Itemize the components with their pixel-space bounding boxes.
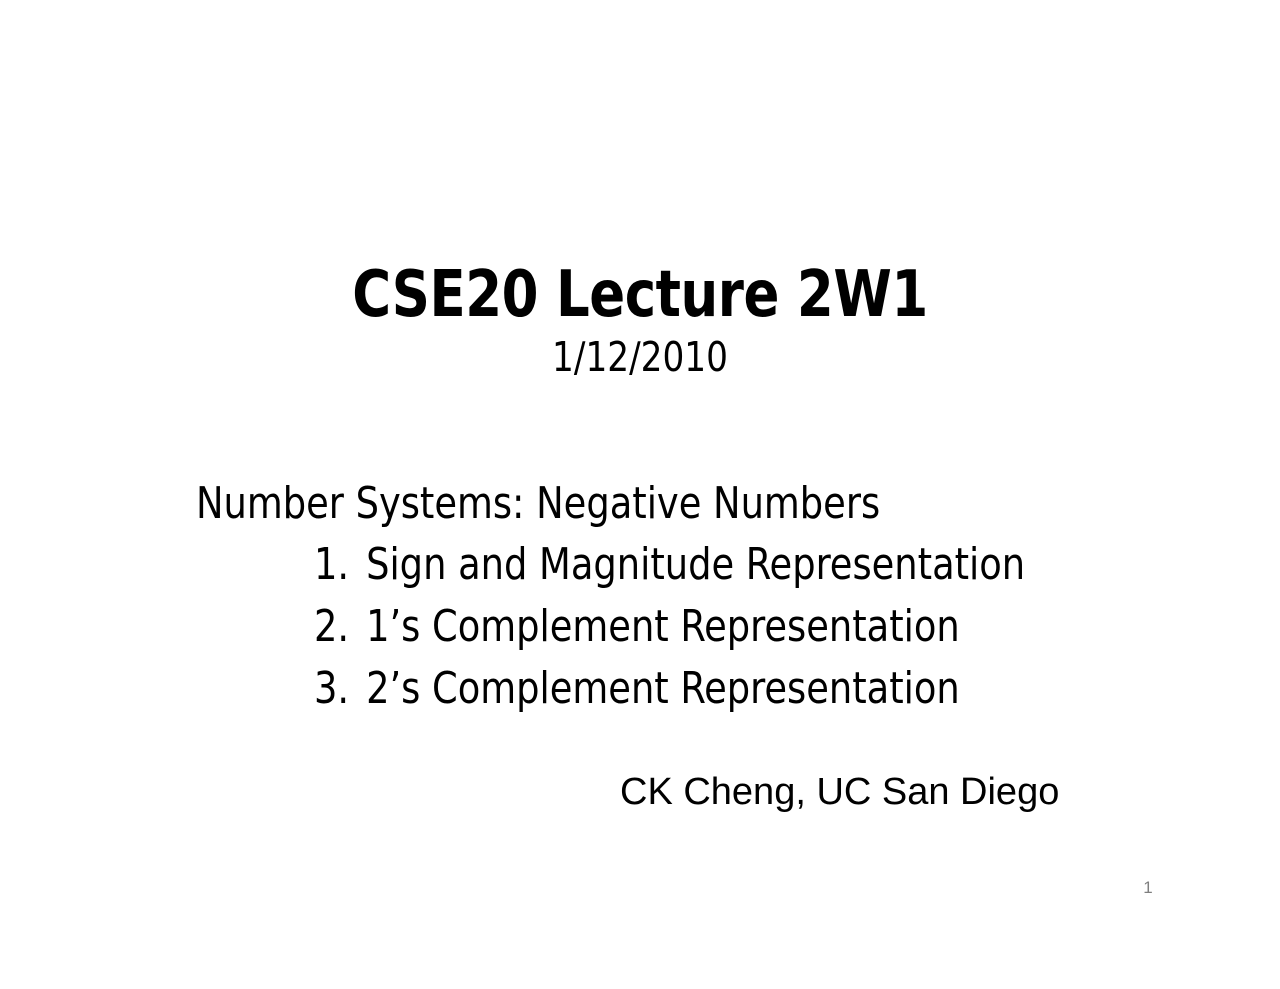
author-attribution: CK Cheng, UC San Diego bbox=[620, 768, 1059, 816]
slide-subtitle-date: 1/12/2010 bbox=[45, 332, 1235, 382]
list-item: 3. 2’s Complement Representation bbox=[314, 658, 1134, 720]
numbered-list: 1. Sign and Magnitude Representation 2. … bbox=[196, 534, 1196, 720]
list-item-label: Sign and Magnitude Representation bbox=[366, 534, 1025, 596]
list-item-label: 2’s Complement Representation bbox=[366, 658, 960, 720]
presentation-slide: CSE20 Lecture 2W1 1/12/2010 Number Syste… bbox=[0, 0, 1280, 989]
list-item-marker: 2. bbox=[314, 596, 366, 658]
slide-page-number: 1 bbox=[1120, 877, 1176, 899]
body-content: Number Systems: Negative Numbers 1. Sign… bbox=[196, 474, 1196, 720]
list-item-marker: 1. bbox=[314, 534, 366, 596]
list-item: 1. Sign and Magnitude Representation bbox=[314, 534, 1134, 596]
body-heading: Number Systems: Negative Numbers bbox=[196, 474, 1126, 534]
title-block: CSE20 Lecture 2W1 1/12/2010 bbox=[0, 258, 1280, 382]
list-item-marker: 3. bbox=[314, 658, 366, 720]
slide-title: CSE20 Lecture 2W1 bbox=[51, 258, 1229, 332]
list-item: 2. 1’s Complement Representation bbox=[314, 596, 1134, 658]
list-item-label: 1’s Complement Representation bbox=[366, 596, 960, 658]
